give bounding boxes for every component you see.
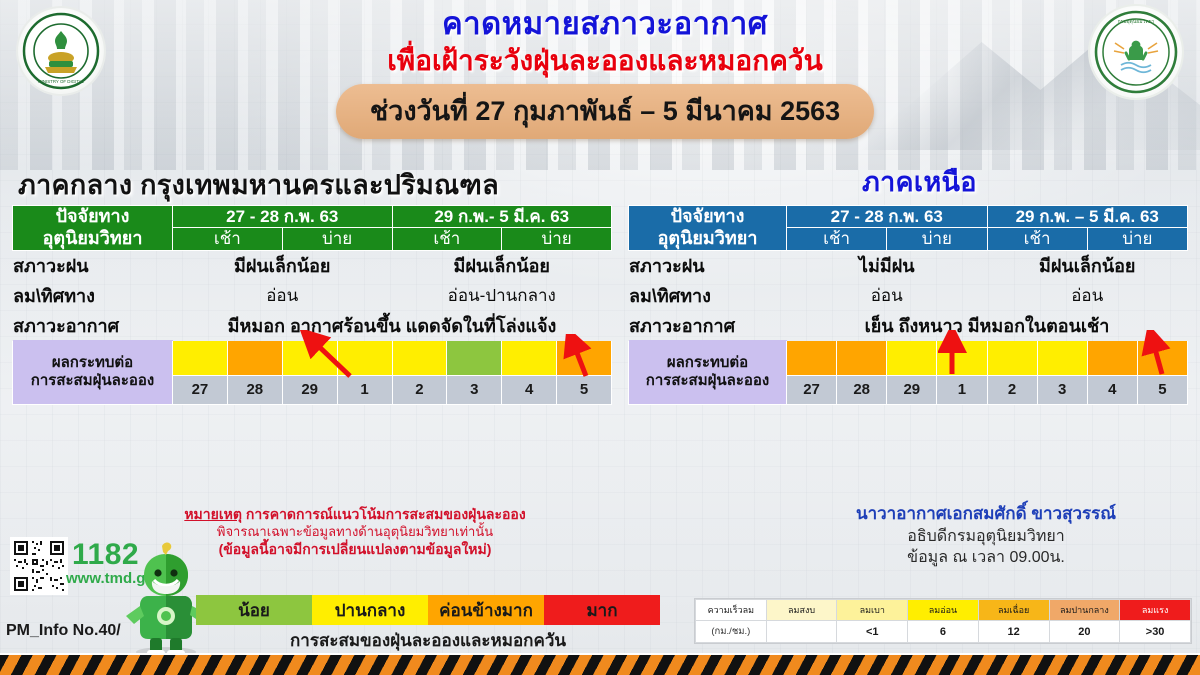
rain-value-period1-north: ไม่มีฝน — [787, 250, 988, 280]
wind-value-period1-north: อ่อน — [787, 280, 988, 310]
day-cell: 5 — [1138, 376, 1187, 404]
svg-text:กรมอุตุนิยมวิทยา: กรมอุตุนิยมวิทยา — [1118, 18, 1155, 25]
subheader-morning-1: เช้า — [173, 228, 283, 250]
wind-legend-label: ลมแรง — [1120, 600, 1191, 621]
impact-chip — [887, 341, 937, 375]
impact-label-line1: ผลกระทบต่อ — [13, 354, 172, 373]
impact-legend: น้อยปานกลางค่อนข้างมากมาก — [196, 595, 660, 625]
hazard-stripe-footer — [0, 653, 1200, 675]
weather-value: มีหมอก อากาศร้อนขึ้น แดดจัดในที่โล่งแจ้ง — [173, 310, 612, 340]
factor-header-line1: ปัจจัยทาง — [13, 206, 172, 228]
subheader-morning-2: เช้า — [392, 228, 502, 250]
subheader-afternoon-1-north: บ่าย — [887, 228, 987, 250]
impact-chip — [557, 341, 611, 375]
factor-header-line1-north: ปัจจัยทาง — [629, 206, 786, 228]
signer-position: อธิบดีกรมอุตุนิยมวิทยา — [786, 526, 1186, 547]
note-line2: พิจารณาเฉพาะข้อมูลทางด้านอุตุนิยมวิทยาเท… — [130, 524, 580, 541]
wind-legend-value: 6 — [908, 621, 979, 643]
day-cell: 2 — [988, 376, 1038, 404]
forecast-table-central: ปัจจัยทาง อุตุนิยมวิทยา 27 - 28 ก.พ. 63 … — [12, 205, 612, 405]
row-label-weather-north: สภาวะอากาศ — [629, 310, 787, 340]
impact-color-strip-north — [787, 341, 1187, 375]
forecast-table-north: ปัจจัยทาง อุตุนิยมวิทยา 27 - 28 ก.พ. 63 … — [628, 205, 1188, 405]
rain-value-period2-north: มีฝนเล็กน้อย — [987, 250, 1188, 280]
subheader-afternoon-1: บ่าย — [282, 228, 392, 250]
impact-label-line2: การสะสมฝุ่นละออง — [13, 372, 172, 391]
ministry-logo: MINISTRY OF DIGITAL — [18, 8, 104, 94]
page-title-line2: เพื่อเฝ้าระวังฝุ่นละอองและหมอกควัน — [200, 44, 1010, 78]
row-label-wind-north: ลม\ทิศทาง — [629, 280, 787, 310]
day-strip-north: 27282912345 — [787, 376, 1187, 404]
note-line1: การคาดการณ์แนวโน้มการสะสมของฝุ่นละออง — [246, 506, 526, 522]
day-cell: 4 — [1088, 376, 1138, 404]
impact-chip — [283, 341, 338, 375]
period-header-2: 29 ก.พ.- 5 มี.ค. 63 — [392, 206, 612, 228]
impact-chip — [1038, 341, 1088, 375]
impact-chip — [393, 341, 448, 375]
impact-chip — [338, 341, 393, 375]
header-titles: คาดหมายสภาวะอากาศ เพื่อเฝ้าระวังฝุ่นละออ… — [200, 6, 1010, 139]
impact-chip — [502, 341, 557, 375]
row-label-wind: ลม\ทิศทาง — [13, 280, 173, 310]
day-cell: 29 — [283, 376, 338, 404]
note-prefix: หมายเหตุ — [184, 506, 242, 522]
factor-header-line2: อุตุนิยมวิทยา — [13, 228, 172, 250]
region-title-north: ภาคเหนือ — [862, 160, 977, 203]
impact-chip — [1138, 341, 1187, 375]
wind-legend-label: ลมเฉื่อย — [978, 600, 1049, 621]
day-cell: 27 — [173, 376, 228, 404]
wind-legend-value: 20 — [1049, 621, 1120, 643]
qr-code[interactable] — [10, 537, 68, 595]
wind-legend-value: <1 — [837, 621, 908, 643]
factor-header-line2-north: อุตุนิยมวิทยา — [629, 228, 786, 250]
wind-value-period1: อ่อน — [173, 280, 393, 310]
region-title-central: ภาคกลาง กรุงเทพมหานครและปริมณฑล — [18, 163, 499, 206]
day-cell: 3 — [447, 376, 502, 404]
row-label-weather: สภาวะอากาศ — [13, 310, 173, 340]
svg-text:MINISTRY OF DIGITAL: MINISTRY OF DIGITAL — [38, 79, 85, 84]
period-header-1: 27 - 28 ก.พ. 63 — [173, 206, 393, 228]
impact-chip — [173, 341, 228, 375]
row-label-rain-north: สภาวะฝน — [629, 250, 787, 280]
subheader-morning-2-north: เช้า — [987, 228, 1087, 250]
day-cell: 5 — [557, 376, 611, 404]
wind-legend-label: ลมปานกลาง — [1049, 600, 1120, 621]
impact-label-line2-north: การสะสมฝุ่นละออง — [629, 372, 786, 391]
impact-chip — [837, 341, 887, 375]
day-strip-central: 27282912345 — [173, 376, 611, 404]
impact-chip — [988, 341, 1038, 375]
day-cell: 1 — [338, 376, 393, 404]
wind-legend-value — [766, 621, 837, 643]
date-range-badge: ช่วงวันที่ 27 กุมภาพันธ์ – 5 มีนาคม 2563 — [336, 84, 874, 139]
day-cell: 27 — [787, 376, 837, 404]
data-timestamp: ข้อมูล ณ เวลา 09.00น. — [786, 547, 1186, 568]
wind-speed-legend: ความเร็วลม ลมสงบลมเบาลมอ่อนลมเฉื่อยลมปาน… — [694, 598, 1192, 644]
day-cell: 28 — [228, 376, 283, 404]
wind-legend-value: 12 — [978, 621, 1049, 643]
day-cell: 3 — [1038, 376, 1088, 404]
day-cell: 29 — [887, 376, 937, 404]
period-header-1-north: 27 - 28 ก.พ. 63 — [787, 206, 988, 228]
rain-value-period2: มีฝนเล็กน้อย — [392, 250, 612, 280]
subheader-afternoon-2: บ่าย — [502, 228, 612, 250]
subheader-afternoon-2-north: บ่าย — [1087, 228, 1187, 250]
day-cell: 2 — [393, 376, 448, 404]
legend-item: ค่อนข้างมาก — [428, 595, 544, 625]
impact-chip — [1088, 341, 1138, 375]
wind-value-period2: อ่อน-ปานกลาง — [392, 280, 612, 310]
tmd-logo: กรมอุตุนิยมวิทยา — [1090, 6, 1182, 98]
legend-caption: การสะสมของฝุ่นละอองและหมอกควัน — [196, 627, 660, 654]
wind-legend-value: >30 — [1120, 621, 1191, 643]
wind-legend-label: ลมเบา — [837, 600, 908, 621]
wind-legend-label: ลมสงบ — [766, 600, 837, 621]
legend-item: น้อย — [196, 595, 312, 625]
legend-item: ปานกลาง — [312, 595, 428, 625]
page-title-line1: คาดหมายสภาวะอากาศ — [200, 6, 1010, 42]
legend-item: มาก — [544, 595, 660, 625]
signer-name: นาวาอากาศเอกสมศักดิ์ ขาวสุวรรณ์ — [786, 503, 1186, 526]
row-label-rain: สภาวะฝน — [13, 250, 173, 280]
day-cell: 1 — [937, 376, 987, 404]
subheader-morning-1-north: เช้า — [787, 228, 887, 250]
impact-label-line1-north: ผลกระทบต่อ — [629, 354, 786, 373]
impact-chip — [787, 341, 837, 375]
day-cell: 4 — [502, 376, 557, 404]
wind-legend-row-label: ความเร็วลม — [696, 600, 767, 621]
period-header-2-north: 29 ก.พ. – 5 มี.ค. 63 — [987, 206, 1188, 228]
impact-chip — [937, 341, 987, 375]
day-cell: 28 — [837, 376, 887, 404]
impact-color-strip-central — [173, 341, 611, 375]
wind-value-period2-north: อ่อน — [987, 280, 1188, 310]
impact-chip — [228, 341, 283, 375]
infographic-root: MINISTRY OF DIGITAL กรมอุตุนิยมวิทยา คาด… — [0, 0, 1200, 675]
weather-value-north: เย็น ถึงหนาว มีหมอกในตอนเช้า — [787, 310, 1188, 340]
pm-info-code: PM_Info No.40/ — [6, 622, 121, 640]
impact-chip — [447, 341, 502, 375]
wind-legend-unit: (กม./ชม.) — [696, 621, 767, 643]
signature-block: นาวาอากาศเอกสมศักดิ์ ขาวสุวรรณ์ อธิบดีกร… — [786, 503, 1186, 569]
wind-legend-label: ลมอ่อน — [908, 600, 979, 621]
rain-value-period1: มีฝนเล็กน้อย — [173, 250, 393, 280]
